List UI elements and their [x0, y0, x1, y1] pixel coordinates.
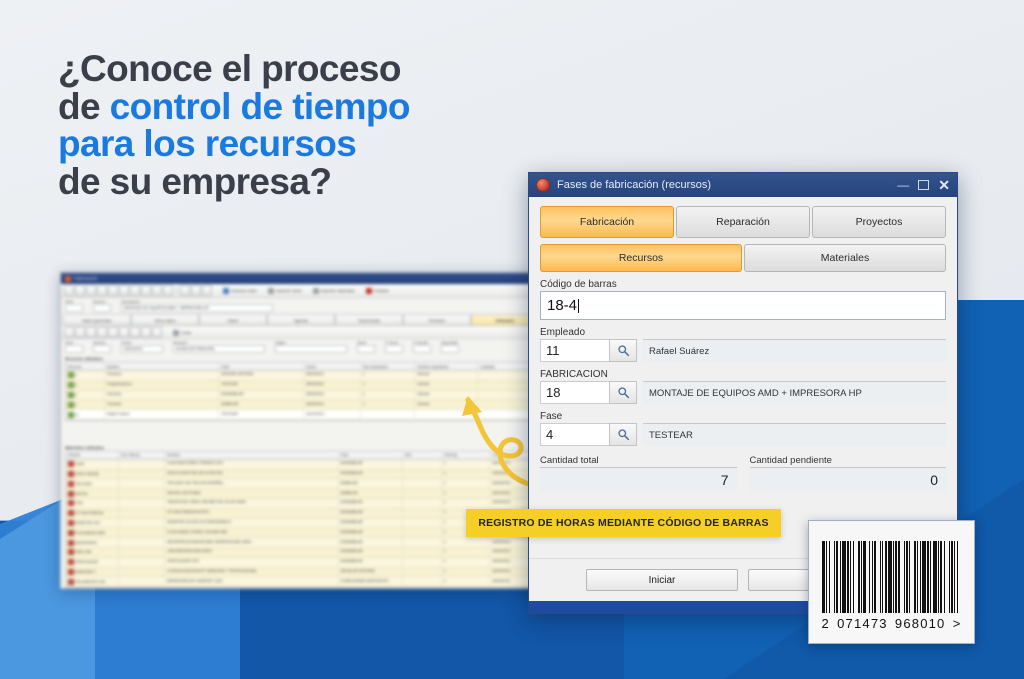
resources-grid[interactable]: Recurso Nombre Fase Fecha Tipo imputació… — [65, 362, 537, 421]
col-nombre-material: Nombre — [165, 452, 338, 459]
material-flag-icon — [68, 491, 74, 497]
erp-tab-agenda[interactable]: Agenda — [267, 314, 335, 325]
list-item[interactable]: HPLASERJET-100IMPRESORA HP LASERJET 1100… — [66, 577, 536, 587]
mat-articulo: VGA — [66, 499, 119, 508]
close-icon[interactable]: ✕ — [938, 178, 950, 192]
fabrication-label: FABRICACION — [540, 369, 946, 380]
row-tipo — [361, 410, 416, 419]
erp-sub-disponible-input[interactable] — [441, 345, 459, 353]
materials-section-title: Materiales utilizados — [61, 443, 541, 451]
erp-sub-fecha-field[interactable]: Fecha 26/03/2012 — [121, 341, 163, 353]
total-quantity-field: Cantidad total 7 — [540, 455, 737, 492]
table-row[interactable]: 2 Técnicos ENSAMBLAR 26/03/2012 1 Normal… — [66, 391, 536, 401]
list-item[interactable]: RAM 1GB1GB MEMORIA RAM DDR2ENSAMBLAR126/… — [66, 548, 536, 558]
toolbar-divider — [176, 286, 177, 295]
row-check-icon — [68, 392, 74, 398]
materials-grid-header: Artículo Cód. Barras Nombre Fase Alm. Ti… — [66, 452, 536, 460]
mat-fase: ENSAMBLAR — [339, 509, 403, 518]
erp-sub-field-row: Serie Número Fecha 26/03/2012 Almacén AL… — [65, 341, 537, 353]
dialog-title: Fases de fabricación (recursos) — [557, 179, 890, 191]
material-flag-icon — [68, 579, 74, 585]
employee-label: Empleado — [540, 327, 946, 338]
mat-articulo: PLACABASE AMD — [66, 528, 119, 537]
row-fase: TESTEAR — [219, 410, 304, 419]
mat-nombre: RATON 2 BOTONES — [165, 489, 338, 498]
mat-tira: 1 — [442, 479, 491, 488]
nav-first-button[interactable] — [64, 285, 74, 296]
material-flag-icon — [68, 569, 74, 575]
material-flag-icon — [68, 559, 74, 565]
mat-barras — [119, 519, 166, 528]
erp-numero-input[interactable] — [93, 304, 111, 312]
erp-sub-pservir-field[interactable]: P. Servir — [385, 341, 403, 353]
mat-tira: 1 — [442, 460, 491, 469]
mat-articulo: HPLASERJET-100 — [66, 577, 119, 586]
tab-recursos[interactable]: Recursos — [540, 244, 742, 272]
row-check-icon — [68, 402, 74, 408]
erp-window-title: Fabricación — [74, 276, 97, 281]
poster-canvas: ¿Conoce el proceso de control de tiempo … — [0, 0, 1024, 679]
col-tipo-imputacion: Tipo imputación — [361, 363, 416, 370]
headline: ¿Conoce el proceso de control de tiempo … — [58, 50, 528, 201]
mat-articulo-value: MICROPROC — [75, 541, 97, 545]
add-button[interactable] — [130, 285, 140, 296]
row-check-icon — [68, 372, 74, 378]
maximize-icon[interactable] — [918, 180, 929, 190]
generate-order-label: Generar orden — [231, 288, 257, 293]
erp-sub-pservir-input[interactable] — [385, 345, 403, 353]
total-quantity-value: 7 — [540, 467, 737, 492]
mat-alm — [403, 577, 442, 586]
pending-quantity-value: 0 — [750, 467, 947, 492]
row-recurso-value: 2 — [75, 403, 77, 407]
material-flag-icon — [68, 481, 74, 487]
mat-cant: 26/03/2012 — [490, 499, 531, 508]
row-cantidad — [478, 391, 531, 400]
delete-button[interactable] — [119, 285, 129, 296]
employee-lookup-button[interactable] — [609, 339, 637, 362]
tab-proyectos[interactable]: Proyectos — [812, 206, 946, 238]
mat-tira: 1 — [442, 558, 491, 567]
col-cod-barras: Cód. Barras — [119, 452, 166, 459]
row-tipo: 1 — [361, 400, 416, 409]
mat-barras — [119, 528, 166, 537]
magnifier-icon — [617, 386, 630, 399]
material-flag-icon — [68, 500, 74, 506]
material-flag-icon — [68, 549, 74, 555]
row-fase: EMBALAR — [219, 400, 304, 409]
barcode-input[interactable]: 18-4 — [540, 291, 946, 320]
mat-nombre: MICROPROCESADOR AMD SEMPRON AM2 2800+ — [165, 538, 338, 547]
main-tab-row[interactable]: Fabricación Reparación Proyectos — [540, 206, 946, 238]
erp-tab-subcontrata[interactable]: Subcontrata — [335, 314, 403, 325]
erp-app-icon — [65, 276, 71, 282]
mat-articulo: TECLADO — [66, 479, 119, 488]
edit-button[interactable] — [141, 285, 151, 296]
minimize-icon[interactable]: — — [897, 179, 909, 191]
finalize-icon — [366, 288, 372, 294]
mat-tira: 1 — [442, 470, 491, 479]
fabrication-lookup-button[interactable] — [609, 381, 637, 404]
mat-barras — [119, 538, 166, 547]
window-controls[interactable]: — ✕ — [897, 178, 950, 192]
nav-prev-button[interactable] — [75, 285, 85, 296]
erp-tab-prevision[interactable]: Previsión — [403, 314, 471, 325]
mat-alm — [403, 489, 442, 498]
material-flag-icon — [68, 530, 74, 536]
mat-articulo-value: MONITOR 19.5 — [75, 521, 100, 525]
row-recurso-value: 2 — [75, 393, 77, 397]
help-icon[interactable] — [202, 285, 212, 296]
sub-stop-button[interactable] — [108, 327, 118, 338]
generate-order-icon — [223, 288, 229, 294]
mat-alm — [403, 470, 442, 479]
tab-fabricacion[interactable]: Fabricación — [540, 206, 674, 238]
mat-cant: 26/03/2012 — [490, 460, 531, 469]
headline-line-4: de su empresa? — [58, 163, 528, 201]
erp-sub-precibir-input[interactable] — [413, 345, 431, 353]
list-item[interactable]: CAJACAJA MINITORRE FORMATO ATXENSAMBLAR1… — [66, 460, 536, 470]
row-check-icon — [68, 412, 74, 418]
mat-articulo-value: RAM 1GB — [75, 550, 91, 554]
text-caret — [578, 299, 579, 313]
linea-label: Línea — [181, 330, 191, 335]
export-icon[interactable] — [191, 285, 201, 296]
col-fase: Fase — [219, 363, 304, 370]
erp-descripcion-input[interactable]: MONTAJE DE EQUIPOS AMD + IMPRESORA HP — [121, 304, 273, 312]
mat-fase: ENSAMBLAR — [339, 460, 403, 469]
erp-sub-disponible-field[interactable]: Disponible — [441, 341, 459, 353]
erp-descripcion-value: MONTAJE DE EQUIPOS AMD + IMPRESORA HP — [122, 306, 211, 310]
erp-tab-bar[interactable]: Datos generales Otros datos Datos Agenda… — [63, 314, 539, 326]
row-check-icon — [68, 382, 74, 388]
mat-cant: 26/03/2012 — [490, 548, 531, 557]
mat-fase: ENSAMBLAR — [339, 528, 403, 537]
mat-fase: EMBALAR — [339, 479, 403, 488]
finalize-label: Finalizar — [374, 288, 389, 293]
erp-numero-field[interactable]: Número — [93, 300, 111, 312]
headline-line-1: ¿Conoce el proceso — [58, 50, 528, 88]
mat-barras — [119, 479, 166, 488]
print-materials-button[interactable]: Imprimir materiales — [313, 288, 355, 294]
app-icon — [536, 178, 550, 192]
mat-nombre: DISCO DURO 500 GB ULTRA IDE — [165, 470, 338, 479]
print-order-icon — [268, 288, 274, 294]
refresh-icon[interactable] — [163, 285, 173, 296]
mat-articulo: RATON — [66, 489, 119, 498]
material-flag-icon — [68, 471, 74, 477]
barcode-card: 2 071473 968010 > — [808, 520, 975, 644]
row-recurso: 11 — [66, 410, 105, 419]
erp-serie-input[interactable] — [65, 304, 83, 312]
mat-alm — [403, 558, 442, 567]
mat-articulo-value: WINDOWS 7 — [75, 570, 96, 574]
phase-lookup-button[interactable] — [609, 423, 637, 446]
tab-reparacion[interactable]: Reparación — [676, 206, 810, 238]
sub-edit-button[interactable] — [141, 327, 151, 338]
mat-articulo-value: TECLADO — [75, 482, 92, 486]
row-fecha: 26/03/2012 — [304, 400, 361, 409]
erp-title-bar: Fabricación — [61, 273, 541, 284]
print-icon[interactable] — [180, 285, 190, 296]
mat-articulo-value: HPLASERJET-100 — [75, 580, 105, 584]
mat-nombre: TARJETA DE VIDEO 256 MB PCIE 16 DVI HDMI — [165, 499, 338, 508]
list-item[interactable]: WINDOWS 7LICENCIA MICROSOFT WINDOWS 7 PR… — [66, 568, 536, 578]
mat-articulo-value: KIT MULTIMEDIA — [75, 511, 103, 515]
mat-alm — [403, 538, 442, 547]
table-row[interactable]: 2 Técnicos EMBALAR 26/03/2012 1 Normal 0… — [66, 400, 536, 410]
row-nombre: Programadores — [105, 381, 219, 390]
row-recurso: 2 — [66, 391, 105, 400]
erp-sub-almacen-field[interactable]: Almacén ALMACEN PRINCIPAL — [173, 341, 265, 353]
row-recurso: 1 — [66, 371, 105, 380]
mat-cant: 26/03/2012 — [490, 577, 531, 586]
col-alm: Alm. — [403, 452, 442, 459]
mat-articulo-value: RATON — [75, 492, 87, 496]
list-item[interactable]: VENTILADORVENTILADOR CPUENSAMBLAR126/03/… — [66, 558, 536, 568]
erp-descripcion-field[interactable]: Descripción MONTAJE DE EQUIPOS AMD + IMP… — [121, 300, 273, 312]
tab-materiales[interactable]: Materiales — [744, 244, 946, 272]
barcode-right-mark: > — [953, 616, 962, 631]
generate-order-button[interactable]: Generar orden — [223, 288, 257, 294]
headline-line-2-plain: de — [58, 86, 110, 127]
mat-fase: ENSAMBLAR — [339, 558, 403, 567]
mat-alm — [403, 499, 442, 508]
sub-nav-next-button[interactable] — [86, 327, 96, 338]
erp-sub-stock-field[interactable]: Stock — [357, 341, 375, 353]
dialog-title-bar[interactable]: Fases de fabricación (recursos) — ✕ — [529, 173, 957, 197]
dialog-body: Fabricación Reparación Proyectos Recurso… — [529, 197, 957, 558]
iniciar-button[interactable]: Iniciar — [586, 569, 738, 591]
magnifier-icon — [617, 344, 630, 357]
print-materials-label: Imprimir materiales — [321, 288, 355, 293]
row-fecha: 26/03/2012 — [304, 381, 361, 390]
mat-articulo-value: VENTILADOR — [75, 560, 98, 564]
row-tipo: 1 — [361, 381, 416, 390]
erp-tab-otros-datos[interactable]: Otros datos — [131, 314, 199, 325]
nav-last-button[interactable] — [97, 285, 107, 296]
mat-articulo: KIT MULTIMEDIA — [66, 509, 119, 518]
sub-nav-prev-button[interactable] — [75, 327, 85, 338]
erp-sub-fields: Serie Número Fecha 26/03/2012 Almacén AL… — [61, 339, 541, 353]
sub-tab-row[interactable]: Recursos Materiales — [540, 244, 946, 272]
table-row[interactable]: 1 Técnicos MONTAR SISTEMA 26/03/2012 1 N… — [66, 371, 536, 381]
employee-code-input[interactable]: 11 — [540, 339, 609, 362]
resources-section-title: Recursos utilizados — [61, 354, 541, 362]
col-nombre: Nombre — [105, 363, 219, 370]
erp-sub-numero-input[interactable] — [93, 345, 111, 353]
mat-tira: 1 — [442, 538, 491, 547]
mat-nombre: IMPRESORA HP LASERJET 1100 — [165, 577, 338, 586]
mat-alm — [403, 460, 442, 469]
table-row[interactable]: 3 Programadores TESTEAR 26/03/2012 1 Nor… — [66, 381, 536, 391]
row-nombre: Técnicos — [105, 400, 219, 409]
list-item[interactable]: MICROPROCMICROPROCESADOR AMD SEMPRON AM2… — [66, 538, 536, 548]
row-fecha: 26/03/2012 — [304, 371, 361, 380]
row-nombre-imp: Normal — [415, 381, 478, 390]
row-cantidad — [478, 371, 531, 380]
fabrication-row[interactable]: 18 MONTAJE DE EQUIPOS AMD + IMPRESORA HP — [540, 381, 946, 404]
nav-next-button[interactable] — [86, 285, 96, 296]
material-flag-icon — [68, 520, 74, 526]
phase-name-value: TESTEAR — [643, 423, 946, 446]
linea-icon — [173, 330, 179, 336]
mat-alm — [403, 568, 442, 577]
erp-header-fields: Serie Número Descripción MONTAJE DE EQUI… — [61, 298, 541, 312]
row-recurso: 3 — [66, 381, 105, 390]
headline-line-3: para los recursos — [58, 125, 528, 163]
iniciar-label: Iniciar — [649, 575, 676, 586]
finalize-button[interactable]: Finalizar — [366, 288, 389, 294]
pending-quantity-field: Cantidad pendiente 0 — [750, 455, 947, 492]
mat-barras — [119, 509, 166, 518]
mat-articulo: CAJA — [66, 460, 119, 469]
erp-sub-almacen-value: ALMACEN PRINCIPAL — [174, 347, 217, 351]
sub-nav-first-button[interactable] — [64, 327, 74, 338]
magnifier-icon — [617, 428, 630, 441]
mat-fase: ENSAMBLAR — [339, 499, 403, 508]
row-fecha: 26/03/2012 — [304, 391, 361, 400]
col-recurso: Recurso — [66, 363, 105, 370]
col-nombre-imputacion: Nombre imputación — [415, 363, 478, 370]
mat-articulo: DISCO 500GB — [66, 470, 119, 479]
erp-header-row: Serie Número Descripción MONTAJE DE EQUI… — [65, 300, 537, 312]
stop-button[interactable] — [108, 285, 118, 296]
mat-nombre: 1GB MEMORIA RAM DDR2 — [165, 548, 338, 557]
erp-toolbar[interactable]: Generar orden Imprimir orden Imprimir ma… — [61, 284, 541, 298]
row-fecha: 16/12/2019 — [304, 410, 361, 419]
row-fase: MONTAR SISTEMA — [219, 371, 304, 380]
erp-sub-precibir-field[interactable]: P. Recibir — [413, 341, 431, 353]
erp-sub-serie-field[interactable]: Serie — [65, 341, 83, 353]
list-item[interactable]: RATONRATON 2 BOTONESEMBALAR126/03/20127 — [66, 489, 536, 499]
erp-sub-origen-field[interactable]: Origen — [275, 341, 347, 353]
row-tipo: 1 — [361, 371, 416, 380]
list-item[interactable]: TECLADOTECLADO 102 TECLAS ESPAÑOLEMBALAR… — [66, 479, 536, 489]
headline-line-2: de control de tiempo — [58, 88, 528, 126]
print-order-button[interactable]: Imprimir orden — [268, 288, 302, 294]
row-cantidad — [478, 410, 531, 419]
mat-articulo-value: DISCO 500GB — [75, 472, 99, 476]
mat-cant: 26/03/2012 — [490, 479, 531, 488]
barcode-label: Código de barras — [540, 279, 946, 290]
phase-row[interactable]: 4 TESTEAR — [540, 423, 946, 446]
mat-alm — [403, 479, 442, 488]
erp-sub-serie-input[interactable] — [65, 345, 83, 353]
mat-alm — [403, 519, 442, 528]
mat-nombre: CAJA MINITORRE FORMATO ATX — [165, 460, 338, 469]
barcode-left-digit: 2 — [822, 616, 830, 631]
row-recurso-value: 11 — [75, 413, 79, 417]
mat-fase: ENSAMBLAR — [339, 470, 403, 479]
erp-sub-fecha-value: 26/03/2012 — [122, 347, 145, 351]
mat-fase: EMBALAR — [339, 489, 403, 498]
erp-tab-datos[interactable]: Datos — [199, 314, 267, 325]
mat-fase: CONFIGURAR DISPOSITIVO — [339, 577, 403, 586]
mat-cant: 26/03/2012 — [490, 568, 531, 577]
table-row[interactable]: 11 Rafael Suárez TESTEAR 16/12/2019 — [66, 410, 536, 420]
erp-sub-origen-input[interactable] — [275, 345, 347, 353]
list-item[interactable]: DISCO 500GBDISCO DURO 500 GB ULTRA IDEEN… — [66, 470, 536, 480]
barcode-number: 2 071473 968010 > — [817, 616, 967, 631]
mat-fase: ENSAMBLAR — [339, 548, 403, 557]
mat-articulo-value: PLACABASE AMD — [75, 531, 105, 535]
pending-quantity-label: Cantidad pendiente — [750, 455, 947, 466]
resources-grid-header: Recurso Nombre Fase Fecha Tipo imputació… — [66, 363, 536, 371]
row-cantidad — [478, 400, 531, 409]
sub-add-button[interactable] — [130, 327, 140, 338]
sub-delete-button[interactable] — [119, 327, 129, 338]
mat-articulo-value: CAJA — [75, 462, 84, 466]
phase-code-input[interactable]: 4 — [540, 423, 609, 446]
mat-cant: 26/03/2012 — [490, 470, 531, 479]
mat-nombre: PLACA BASE SVIDEO VIA AMD AM2 — [165, 528, 338, 537]
erp-background-window[interactable]: Fabricación Generar orden Imprimir orden… — [60, 272, 542, 589]
mat-cant: 26/03/2012 — [490, 538, 531, 547]
print-materials-icon — [313, 288, 319, 294]
row-nombre-imp: Normal — [415, 371, 478, 380]
mat-alm — [403, 528, 442, 537]
barcode-group-1: 071473 — [837, 616, 888, 631]
mat-articulo-value: VGA — [75, 501, 83, 505]
erp-sub-stock-input[interactable] — [357, 345, 375, 353]
barcode-bars — [822, 541, 962, 613]
mat-articulo: WINDOWS 7 — [66, 568, 119, 577]
col-fase-material: Fase — [339, 452, 403, 459]
mat-alm — [403, 509, 442, 518]
erp-serie-field[interactable]: Serie — [65, 300, 83, 312]
linea-button[interactable]: Línea — [173, 330, 191, 336]
col-articulo: Artículo — [66, 452, 119, 459]
erp-sub-toolbar[interactable]: Línea — [61, 327, 541, 339]
row-nombre-imp — [415, 410, 478, 419]
mat-articulo: RAM 1GB — [66, 548, 119, 557]
mat-nombre: TECLADO 102 TECLAS ESPAÑOL — [165, 479, 338, 488]
print-order-label: Imprimir orden — [276, 288, 302, 293]
employee-row[interactable]: 11 Rafael Suárez — [540, 339, 946, 362]
col-cant: Cant. — [490, 452, 531, 459]
barcode-value: 18-4 — [547, 297, 577, 314]
row-nombre-imp: Normal — [415, 391, 478, 400]
list-item[interactable]: VGATARJETA DE VIDEO 256 MB PCIE 16 DVI H… — [66, 499, 536, 509]
row-recurso-value: 3 — [75, 383, 77, 387]
mat-articulo: MICROPROC — [66, 538, 119, 547]
mat-fase: INSTALAR SISTEMA — [339, 568, 403, 577]
mat-barras — [119, 577, 166, 586]
search-icon[interactable] — [152, 285, 162, 296]
mat-tira: 1 — [442, 548, 491, 557]
sub-search-icon[interactable] — [152, 327, 162, 338]
mat-barras — [119, 499, 166, 508]
erp-sub-almacen-input[interactable]: ALMACEN PRINCIPAL — [173, 345, 265, 353]
row-fase: TESTEAR — [219, 381, 304, 390]
mat-barras — [119, 460, 166, 469]
mat-cant: 26/03/2012 — [490, 489, 531, 498]
mat-nombre: KIT MULTIMEDIA 64 MTS — [165, 509, 338, 518]
fabrication-name-value: MONTAJE DE EQUIPOS AMD + IMPRESORA HP — [643, 381, 946, 404]
sub-nav-last-button[interactable] — [97, 327, 107, 338]
fabrication-code-input[interactable]: 18 — [540, 381, 609, 404]
mat-tira: 1 — [442, 499, 491, 508]
erp-sub-numero-field[interactable]: Número — [93, 341, 111, 353]
mat-barras — [119, 568, 166, 577]
row-nombre: Técnicos — [105, 371, 219, 380]
row-tipo: 1 — [361, 391, 416, 400]
erp-sub-fecha-input[interactable]: 26/03/2012 — [121, 345, 163, 353]
erp-tab-datos-generales[interactable]: Datos generales — [63, 314, 131, 325]
callout-banner-text: REGISTRO DE HORAS MEDIANTE CÓDIGO DE BAR… — [478, 517, 768, 529]
row-recurso: 2 — [66, 400, 105, 409]
